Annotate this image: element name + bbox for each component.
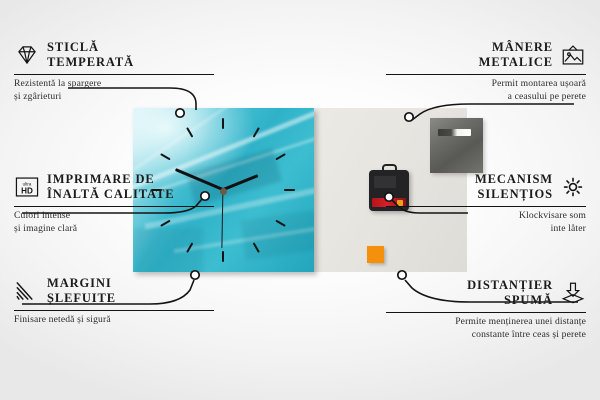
- beveled-edges-icon: [14, 279, 40, 303]
- diamond-icon: [14, 43, 40, 67]
- foam-spacer-icon: [560, 281, 586, 305]
- feature-spacer-subtitle: Permite menținerea unei distanțe constan…: [386, 316, 586, 341]
- tick-mark: [284, 189, 295, 191]
- feature-print: ultra HD IMPRIMARE DE ÎNALTĂ CALITATE Cu…: [14, 172, 214, 235]
- feature-spacer: DISTANȚIER SPUMĂ Permite menținerea unei…: [386, 278, 586, 341]
- feature-edges-rule: [14, 310, 214, 312]
- second-hand: [221, 190, 223, 248]
- feature-spacer-rule: [386, 312, 586, 314]
- ultra-hd-icon: ultra HD: [14, 175, 40, 199]
- clock-center-pin: [220, 188, 227, 195]
- feature-print-head: ultra HD IMPRIMARE DE ÎNALTĂ CALITATE: [14, 172, 214, 202]
- feature-hangers-head: MÂNERE METALICE: [386, 40, 586, 70]
- feature-glass-title: STICLĂ TEMPERATĂ: [47, 40, 134, 70]
- feature-hangers-subtitle: Permit montarea ușoară a ceasului pe per…: [386, 78, 586, 103]
- infographic-stage: STICLĂ TEMPERATĂ Rezistentă la spargere …: [0, 0, 600, 400]
- feature-hangers: MÂNERE METALICE Permit montarea ușoară a…: [386, 40, 586, 103]
- picture-hanger-icon: [560, 43, 586, 67]
- feature-glass-head: STICLĂ TEMPERATĂ: [14, 40, 214, 70]
- feature-mechanism-head: MECANISM SILENȚIOS: [386, 172, 586, 202]
- feature-print-rule: [14, 206, 214, 208]
- feature-edges-head: MARGINI ȘLEFUITE: [14, 276, 214, 306]
- feature-glass-rule: [14, 74, 214, 76]
- feature-edges-subtitle: Finisare netedă și sigură: [14, 314, 214, 326]
- metal-hanger-plate: [430, 118, 483, 173]
- feature-mechanism: MECANISM SILENȚIOS Klockvisare som inte …: [386, 172, 586, 235]
- svg-text:HD: HD: [21, 186, 33, 195]
- feature-edges: MARGINI ȘLEFUITE Finisare netedă și sigu…: [14, 276, 214, 327]
- feature-mechanism-title: MECANISM SILENȚIOS: [475, 172, 553, 202]
- hanger-slot: [438, 129, 471, 136]
- tick-mark: [160, 153, 171, 160]
- tick-mark: [222, 251, 224, 262]
- feature-spacer-title: DISTANȚIER SPUMĂ: [467, 278, 553, 308]
- svg-text:ultra: ultra: [23, 181, 32, 186]
- tick-mark: [275, 153, 286, 160]
- feature-mechanism-rule: [386, 206, 586, 208]
- feature-glass: STICLĂ TEMPERATĂ Rezistentă la spargere …: [14, 40, 214, 103]
- tick-mark: [222, 118, 224, 129]
- gear-icon: [560, 175, 586, 199]
- feature-hangers-title: MÂNERE METALICE: [479, 40, 553, 70]
- feature-spacer-head: DISTANȚIER SPUMĂ: [386, 278, 586, 308]
- feature-print-subtitle: Culori intense și imagine clară: [14, 210, 214, 235]
- feature-hangers-rule: [386, 74, 586, 76]
- feature-print-title: IMPRIMARE DE ÎNALTĂ CALITATE: [47, 172, 175, 202]
- foam-spacer-chip: [367, 246, 384, 263]
- feature-glass-subtitle: Rezistentă la spargere și zgârieturi: [14, 78, 214, 103]
- feature-edges-title: MARGINI ȘLEFUITE: [47, 276, 116, 306]
- feature-mechanism-subtitle: Klockvisare som inte låter: [386, 210, 586, 235]
